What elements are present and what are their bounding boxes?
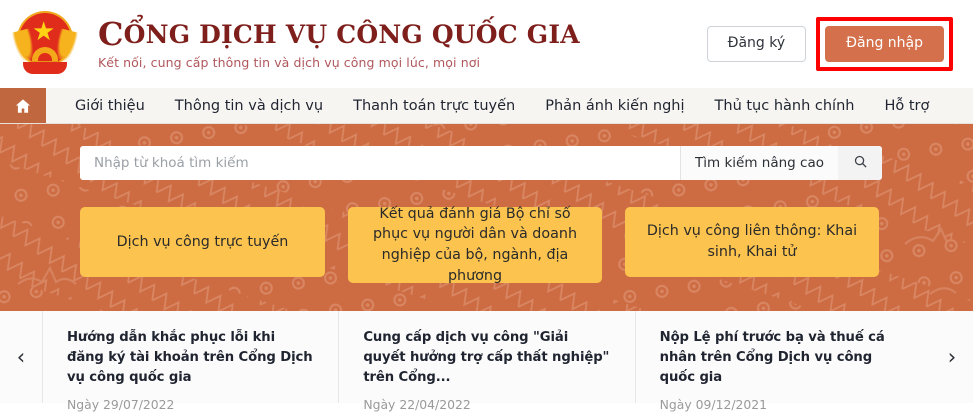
- news-title: Cung cấp dịch vụ công "Giải quyết hưởng …: [363, 328, 610, 387]
- search-bar: Tìm kiếm nâng cao: [80, 146, 882, 180]
- auth-actions: Đăng ký Đăng nhập: [707, 17, 953, 70]
- login-button-highlight-annotation: Đăng nhập: [816, 17, 953, 70]
- news-item[interactable]: Cung cấp dịch vụ công "Giải quyết hưởng …: [338, 311, 634, 403]
- magnifier-icon: [853, 154, 868, 173]
- news-date: Ngày 29/07/2022: [67, 397, 314, 412]
- news-date: Ngày 22/04/2022: [363, 397, 610, 412]
- register-button[interactable]: Đăng ký: [707, 26, 807, 61]
- news-carousel: ‹ Hướng dẫn khắc phục lỗi khi đăng ký tà…: [0, 311, 973, 403]
- nav-item-phan-anh-kien-nghi[interactable]: Phản ánh kiến nghị: [530, 88, 699, 124]
- search-button[interactable]: [838, 146, 882, 180]
- advanced-search-link[interactable]: Tìm kiếm nâng cao: [680, 146, 838, 180]
- nav-item-thu-tuc-hanh-chinh[interactable]: Thủ tục hành chính: [700, 88, 870, 124]
- hero-content: Tìm kiếm nâng cao Dịch vụ công trực tuyế…: [0, 124, 973, 283]
- hero-banner: Tìm kiếm nâng cao Dịch vụ công trực tuyế…: [0, 124, 973, 311]
- title-rest: ỔNG DỊCH VỤ CÔNG QUỐC GIA: [124, 20, 580, 49]
- quick-link-cards: Dịch vụ công trực tuyến Kết quả đánh giá…: [80, 207, 900, 283]
- news-track: Hướng dẫn khắc phục lỗi khi đăng ký tài …: [42, 311, 931, 403]
- title-dropcap: C: [98, 15, 124, 53]
- news-item[interactable]: Hướng dẫn khắc phục lỗi khi đăng ký tài …: [42, 311, 338, 403]
- nav-item-ho-tro[interactable]: Hỗ trợ: [869, 88, 944, 124]
- site-header: CỔNG DỊCH VỤ CÔNG QUỐC GIA Kết nối, cung…: [0, 0, 973, 88]
- search-input[interactable]: [80, 146, 680, 180]
- nav-item-gioi-thieu[interactable]: Giới thiệu: [60, 88, 160, 124]
- chevron-left-icon[interactable]: ‹: [0, 311, 42, 403]
- login-button[interactable]: Đăng nhập: [825, 26, 944, 61]
- news-title: Hướng dẫn khắc phục lỗi khi đăng ký tài …: [67, 328, 314, 387]
- site-titles: CỔNG DỊCH VỤ CÔNG QUỐC GIA Kết nối, cung…: [94, 18, 707, 70]
- news-item[interactable]: Nộp Lệ phí trước bạ và thuế cá nhân trên…: [635, 311, 931, 403]
- card-dich-vu-cong-lien-thong[interactable]: Dịch vụ công liên thông: Khai sinh, Khai…: [625, 207, 879, 277]
- site-subtitle: Kết nối, cung cấp thông tin và dịch vụ c…: [98, 55, 707, 70]
- nav-item-thanh-toan-truc-tuyen[interactable]: Thanh toán trực tuyến: [338, 88, 530, 124]
- vietnam-national-emblem-icon: [12, 10, 80, 78]
- news-title: Nộp Lệ phí trước bạ và thuế cá nhân trên…: [660, 328, 907, 387]
- page-root: CỔNG DỊCH VỤ CÔNG QUỐC GIA Kết nối, cung…: [0, 0, 973, 403]
- card-ket-qua-danh-gia-bo-chi-so[interactable]: Kết quả đánh giá Bộ chỉ số phục vụ người…: [348, 207, 602, 283]
- main-navigation: Giới thiệu Thông tin và dịch vụ Thanh to…: [0, 88, 973, 124]
- nav-items: Giới thiệu Thông tin và dịch vụ Thanh to…: [46, 88, 944, 123]
- nav-home-button[interactable]: [0, 88, 46, 123]
- home-icon: [14, 97, 32, 115]
- page-title: CỔNG DỊCH VỤ CÔNG QUỐC GIA: [98, 18, 707, 49]
- chevron-right-icon[interactable]: ›: [931, 311, 973, 403]
- nav-item-thong-tin-va-dich-vu[interactable]: Thông tin và dịch vụ: [160, 88, 338, 124]
- card-dich-vu-cong-truc-tuyen[interactable]: Dịch vụ công trực tuyến: [80, 207, 325, 277]
- news-date: Ngày 09/12/2021: [660, 397, 907, 412]
